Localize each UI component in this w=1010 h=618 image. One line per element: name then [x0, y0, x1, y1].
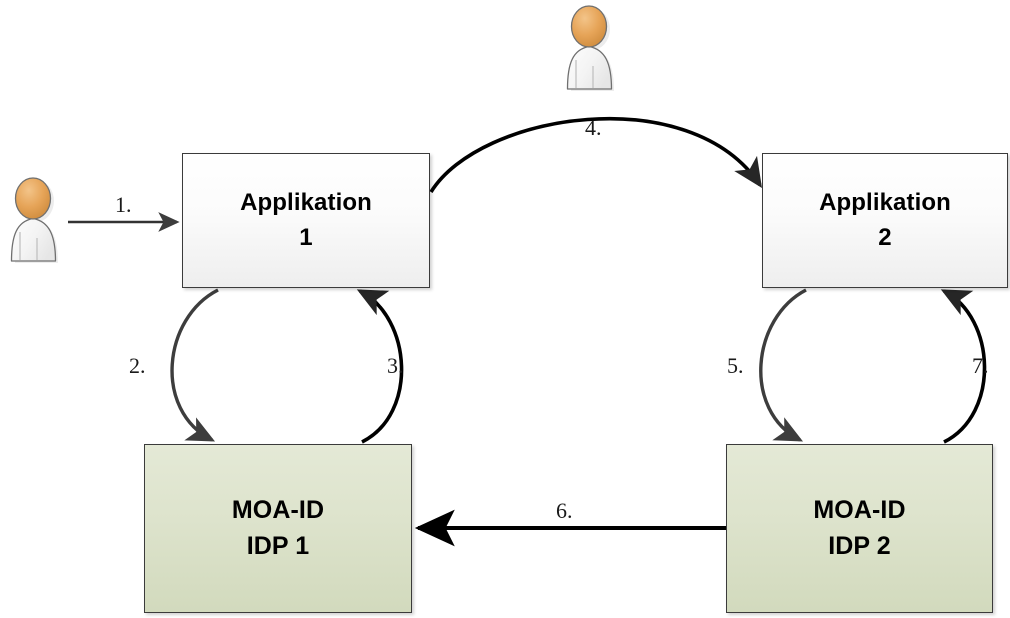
application-1-label-line2: 1 [299, 221, 312, 255]
moa-id-idp-1-box[interactable]: MOA-ID IDP 1 [144, 444, 412, 613]
step-label-1: 1. [115, 194, 132, 216]
application-1-label-line1: Applikation [240, 186, 372, 220]
moa-id-idp-2-box[interactable]: MOA-ID IDP 2 [726, 444, 993, 613]
step-label-7: 7. [972, 355, 989, 377]
application-2-box[interactable]: Applikation 2 [762, 153, 1008, 288]
moa-id-idp-1-label-line1: MOA-ID [232, 493, 324, 529]
step-label-5: 5. [727, 355, 744, 377]
connector-app2-to-idp2-path [761, 290, 806, 440]
step-label-3: 3. [387, 355, 404, 377]
application-1-box[interactable]: Applikation 1 [182, 153, 430, 288]
step-label-4: 4. [585, 117, 602, 139]
moa-id-idp-1-label-line2: IDP 1 [247, 529, 310, 565]
application-2-label-line2: 2 [878, 221, 891, 255]
user-actor-left-icon [12, 178, 59, 263]
moa-id-idp-2-label-line2: IDP 2 [828, 529, 891, 565]
step-label-2: 2. [129, 355, 146, 377]
diagram-canvas: Applikation 1 Applikation 2 MOA-ID IDP 1… [0, 0, 1010, 618]
moa-id-idp-2-label-line1: MOA-ID [813, 493, 905, 529]
user-actor-top-icon [568, 6, 615, 91]
application-2-label-line1: Applikation [819, 186, 951, 220]
step-label-6: 6. [556, 500, 573, 522]
connector-app1-to-idp1-path [172, 290, 218, 440]
